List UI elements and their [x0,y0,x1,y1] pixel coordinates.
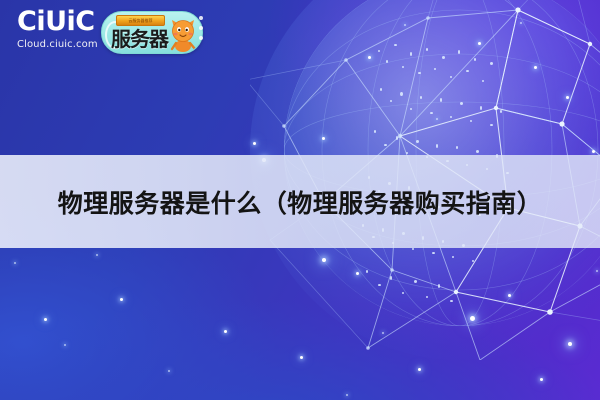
badge-title: 服务器 [111,23,168,52]
particle [44,318,47,321]
particle [253,142,256,145]
particle [14,262,16,264]
orange-cat-mascot-icon [166,16,200,53]
particle [322,137,325,140]
particle [224,330,227,333]
particle [322,258,326,262]
particle [368,56,371,59]
particle [120,298,123,301]
particle [568,342,572,346]
particle [592,150,595,153]
server-badge[interactable]: 云服务器推荐 服务器 [101,11,203,54]
particle [382,332,384,334]
page-title: 物理服务器是什么（物理服务器购买指南） [0,155,600,248]
particle [418,368,421,371]
logo-domain: Cloud.ciuic.com [17,39,97,50]
particle [470,316,475,321]
particle [64,344,66,346]
particle [300,356,303,359]
badge-edge-dots [199,16,204,42]
particle [534,66,537,69]
brand-logo[interactable]: CiUiC Cloud.ciuic.com [17,8,97,50]
particle [346,394,348,396]
particle [356,272,359,275]
particle [168,370,170,372]
particle [520,22,522,24]
particle [436,118,438,120]
particle [566,96,569,99]
particle [596,270,598,272]
logo-wordmark: CiUiC [17,8,97,35]
particle [96,254,98,256]
particle [478,42,481,45]
particle [508,294,511,297]
particle [404,24,406,26]
particle [540,378,543,381]
banner-image: 物理服务器是什么（物理服务器购买指南） CiUiC Cloud.ciuic.co… [0,0,600,400]
